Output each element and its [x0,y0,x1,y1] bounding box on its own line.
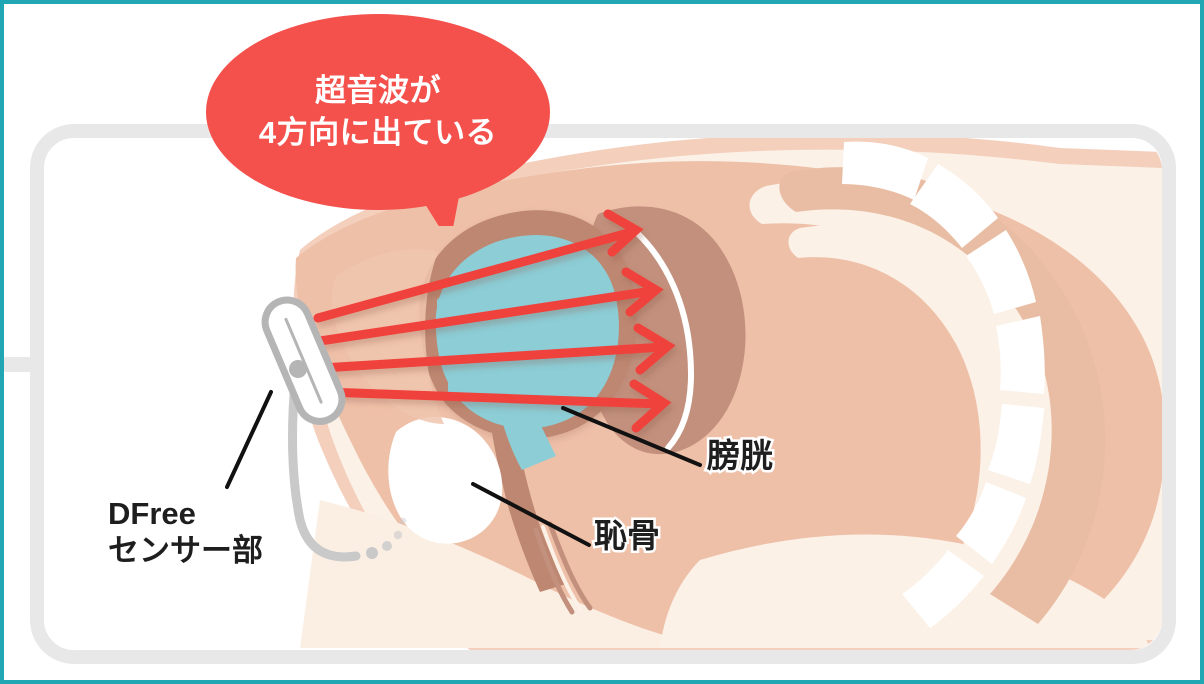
sensor-cable-knob [289,360,307,378]
frame-side-notch [4,357,38,372]
illustration-stage: 超音波が 4方向に出ている DFree センサー部 膀胱 恥骨 [0,0,1204,684]
label-bladder: 膀胱 [707,437,773,476]
anatomy-illustration [0,0,1204,684]
speech-bubble-text: 超音波が 4方向に出ている [206,14,550,210]
speech-bubble: 超音波が 4方向に出ている [206,14,550,226]
label-dfree-sensor: DFree センサー部 [108,496,263,569]
label-pubic-bone: 恥骨 [594,517,660,556]
